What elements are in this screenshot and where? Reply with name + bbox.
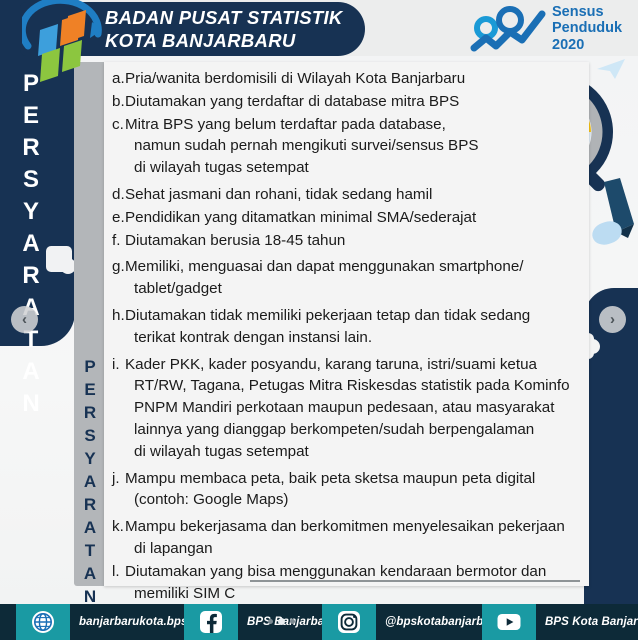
vletter-5: A <box>12 232 50 256</box>
cletter-0: P <box>78 358 102 375</box>
requirement-item: c.Mitra BPS yang belum terdaftar pada da… <box>112 114 582 179</box>
footer-bar: banjarbarukota.bps.go.id BPS Banjarbaru <box>0 604 638 640</box>
requirement-item: h.Diutamakan tidak memiliki pekerjaan te… <box>112 305 582 349</box>
requirement-marker: g. <box>112 256 125 300</box>
website-icon-tab <box>16 604 70 640</box>
requirement-text: Diutamakan yang bisa menggunakan kendara… <box>125 561 582 605</box>
requirements-list: a.Pria/wanita berdomisili di Wilayah Kot… <box>112 68 582 605</box>
requirement-marker: a. <box>112 68 125 90</box>
requirement-text: Diutamakan tidak memiliki pekerjaan teta… <box>125 305 582 349</box>
footer-channel-instagram[interactable]: @bpskotabanjarbaru <box>322 604 502 640</box>
requirement-item: d.Sehat jasmani dan rohani, tidak sedang… <box>112 184 582 206</box>
requirement-text: Sehat jasmani dan rohani, tidak sedang h… <box>125 184 582 206</box>
dot-3 <box>290 619 295 624</box>
facebook-icon <box>199 610 223 634</box>
bps-logo <box>22 0 108 88</box>
requirement-marker: d. <box>112 184 125 206</box>
requirement-line: di lapangan <box>125 538 582 560</box>
requirement-marker: b. <box>112 91 125 113</box>
card-bottom-rule <box>250 580 580 582</box>
requirement-line: Kader PKK, kader posyandu, karang taruna… <box>125 354 582 376</box>
requirement-line: Diutamakan tidak memiliki pekerjaan teta… <box>125 305 582 327</box>
sensus-line-2: Penduduk <box>552 20 622 36</box>
requirement-line: di wilayah tugas setempat <box>125 157 582 179</box>
requirement-line: Diutamakan yang terdaftar di database mi… <box>125 91 582 113</box>
requirement-line: memiliki SIM C <box>125 583 582 605</box>
carousel-next-button[interactable]: › <box>599 306 626 333</box>
vletter-10: N <box>12 392 50 416</box>
carousel-dots <box>268 618 295 625</box>
requirement-line: Pendidikan yang ditamatkan minimal SMA/s… <box>125 207 582 229</box>
vletter-3: S <box>12 168 50 192</box>
requirement-line: Mampu bekerjasama dan berkomitmen menyel… <box>125 516 582 538</box>
carousel-prev-button[interactable]: ‹ <box>11 306 38 333</box>
requirement-line: Pria/wanita berdomisili di Wilayah Kota … <box>125 68 582 90</box>
requirement-item: e.Pendidikan yang ditamatkan minimal SMA… <box>112 207 582 229</box>
requirement-text: Pendidikan yang ditamatkan minimal SMA/s… <box>125 207 582 229</box>
youtube-label: BPS Kota Banjarbaru <box>536 616 638 628</box>
requirement-item: b.Diutamakan yang terdaftar di database … <box>112 91 582 113</box>
instagram-icon <box>337 610 361 634</box>
sidebar-vertical-persyaratan: P E R S Y A R A T A N <box>12 72 50 424</box>
cletter-8: T <box>78 542 102 559</box>
cletter-7: A <box>78 519 102 536</box>
requirement-item: k.Mampu bekerjasama dan berkomitmen meny… <box>112 516 582 560</box>
org-line-1: BADAN PUSAT STATISTIK <box>105 6 360 29</box>
vletter-1: E <box>12 104 50 128</box>
cletter-10: N <box>78 588 102 605</box>
sensus-penduduk-logo <box>470 6 548 54</box>
poster-canvas: ♫ P E R S Y A R A T A N P E R S Y A R A … <box>0 0 638 640</box>
youtube-icon <box>497 610 521 634</box>
requirement-item: l.Diutamakan yang bisa menggunakan kenda… <box>112 561 582 605</box>
footer-channel-facebook[interactable]: BPS Banjarbaru <box>184 604 336 640</box>
dot-1 <box>268 619 273 624</box>
requirement-marker: c. <box>112 114 125 179</box>
requirement-marker: e. <box>112 207 125 229</box>
requirement-line: lainnya yang dianggap berkompeten/sudah … <box>125 419 582 441</box>
requirement-marker: f. <box>112 230 125 252</box>
cletter-2: R <box>78 404 102 421</box>
chevron-left-icon: ‹ <box>22 311 27 328</box>
sensus-line-1: Sensus <box>552 4 622 20</box>
requirement-line: PNPM Mandiri perkotaan maupun pedesaan, … <box>125 397 582 419</box>
instagram-icon-tab <box>322 604 376 640</box>
vletter-2: R <box>12 136 50 160</box>
sensus-line-3: 2020 <box>552 37 622 53</box>
requirement-item: i.Kader PKK, kader posyandu, karang taru… <box>112 354 582 463</box>
requirement-line: Mitra BPS yang belum terdaftar pada data… <box>125 114 582 136</box>
requirement-line: (contoh: Google Maps) <box>125 489 582 511</box>
vletter-4: Y <box>12 200 50 224</box>
vletter-9: A <box>12 360 50 384</box>
requirement-text: Memiliki, menguasai dan dapat menggunaka… <box>125 256 582 300</box>
youtube-icon-tab <box>482 604 536 640</box>
requirement-line: Memiliki, menguasai dan dapat menggunaka… <box>125 256 582 278</box>
sensus-penduduk-text: Sensus Penduduk 2020 <box>552 4 622 53</box>
footer-channel-youtube[interactable]: BPS Kota Banjarbaru <box>482 604 638 640</box>
requirement-line: Mampu membaca peta, baik peta sketsa mau… <box>125 468 582 490</box>
sensus-penduduk-block: Sensus Penduduk 2020 <box>470 4 638 58</box>
requirement-line: di wilayah tugas setempat <box>125 441 582 463</box>
requirement-line: Diutamakan berusia 18-45 tahun <box>125 230 582 252</box>
cletter-3: S <box>78 427 102 444</box>
cletter-1: E <box>78 381 102 398</box>
requirement-text: Mitra BPS yang belum terdaftar pada data… <box>125 114 582 179</box>
requirement-marker: k. <box>112 516 125 560</box>
requirement-line: Sehat jasmani dan rohani, tidak sedang h… <box>125 184 582 206</box>
requirement-item: j.Mampu membaca peta, baik peta sketsa m… <box>112 468 582 512</box>
requirement-marker: l. <box>112 561 125 605</box>
requirements-card: a.Pria/wanita berdomisili di Wilayah Kot… <box>104 62 589 586</box>
requirement-line: terikat kontrak dengan instansi lain. <box>125 327 582 349</box>
requirement-item: f.Diutamakan berusia 18-45 tahun <box>112 230 582 252</box>
vletter-6: R <box>12 264 50 288</box>
requirement-text: Diutamakan berusia 18-45 tahun <box>125 230 582 252</box>
requirement-item: a.Pria/wanita berdomisili di Wilayah Kot… <box>112 68 582 90</box>
facebook-icon-tab <box>184 604 238 640</box>
chevron-right-icon: › <box>610 311 615 328</box>
cletter-6: R <box>78 496 102 513</box>
requirement-marker: j. <box>112 468 125 512</box>
requirement-text: Pria/wanita berdomisili di Wilayah Kota … <box>125 68 582 90</box>
requirement-line: tablet/gadget <box>125 278 582 300</box>
requirement-item: g.Memiliki, menguasai dan dapat mengguna… <box>112 256 582 300</box>
requirement-line: RT/RW, Tagana, Petugas Mitra Riskesdas s… <box>125 375 582 397</box>
dot-2-active <box>278 618 285 625</box>
card-vertical-persyaratan: P E R S Y A R A T A N <box>78 358 102 611</box>
cletter-9: A <box>78 565 102 582</box>
cletter-5: A <box>78 473 102 490</box>
requirement-text: Diutamakan yang terdaftar di database mi… <box>125 91 582 113</box>
requirement-text: Mampu bekerjasama dan berkomitmen menyel… <box>125 516 582 560</box>
header-org-title: BADAN PUSAT STATISTIK KOTA BANJARBARU <box>105 6 360 52</box>
org-line-2: KOTA BANJARBARU <box>105 29 360 52</box>
requirement-text: Kader PKK, kader posyandu, karang taruna… <box>125 354 582 463</box>
requirement-text: Mampu membaca peta, baik peta sketsa mau… <box>125 468 582 512</box>
requirement-marker: h. <box>112 305 125 349</box>
requirement-line: namun sudah pernah mengikuti survei/sens… <box>125 135 582 157</box>
requirement-marker: i. <box>112 354 125 463</box>
globe-icon <box>31 610 55 634</box>
cletter-4: Y <box>78 450 102 467</box>
